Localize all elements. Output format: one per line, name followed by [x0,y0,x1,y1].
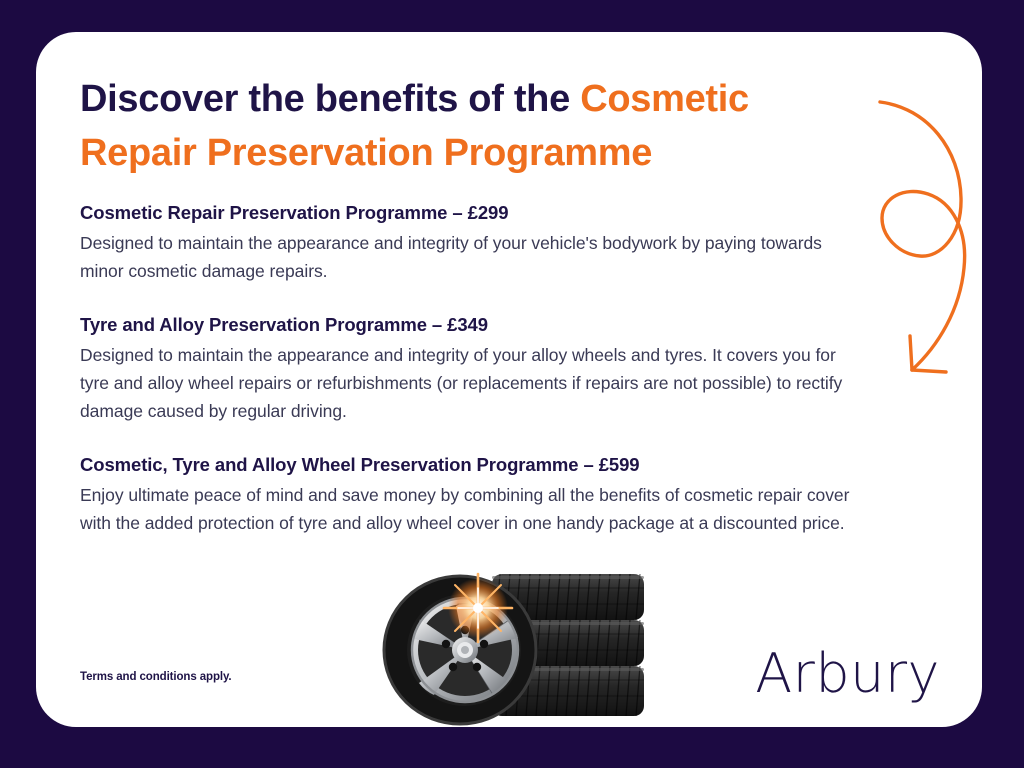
title-text-orange-2: Repair Preservation Programme [80,132,652,174]
title-line-2: Repair Preservation Programme [80,126,840,180]
programme-section-cosmetic: Cosmetic Repair Preservation Programme –… [80,200,860,285]
section-heading: Cosmetic Repair Preservation Programme –… [80,200,860,226]
tyre-stack-image [370,560,660,727]
section-body: Designed to maintain the appearance and … [80,229,860,285]
title-text-navy: Discover the benefits of the [80,78,580,120]
content-card: Discover the benefits of the Cosmetic Re… [36,32,982,727]
section-body: Designed to maintain the appearance and … [80,341,860,425]
page-title: Discover the benefits of the Cosmetic Re… [80,72,840,180]
programme-section-tyre-alloy: Tyre and Alloy Preservation Programme – … [80,312,860,425]
arbury-logo: Arbury [755,642,940,705]
title-line-1: Discover the benefits of the Cosmetic [80,72,840,126]
programme-sections: Cosmetic Repair Preservation Programme –… [80,200,860,537]
terms-and-conditions: Terms and conditions apply. [80,671,232,683]
section-body: Enjoy ultimate peace of mind and save mo… [80,481,860,537]
poster-canvas: Discover the benefits of the Cosmetic Re… [0,0,1024,768]
section-heading: Tyre and Alloy Preservation Programme – … [80,312,860,338]
title-text-orange-1: Cosmetic [580,78,749,120]
section-heading: Cosmetic, Tyre and Alloy Wheel Preservat… [80,452,860,478]
programme-section-combined: Cosmetic, Tyre and Alloy Wheel Preservat… [80,452,860,537]
